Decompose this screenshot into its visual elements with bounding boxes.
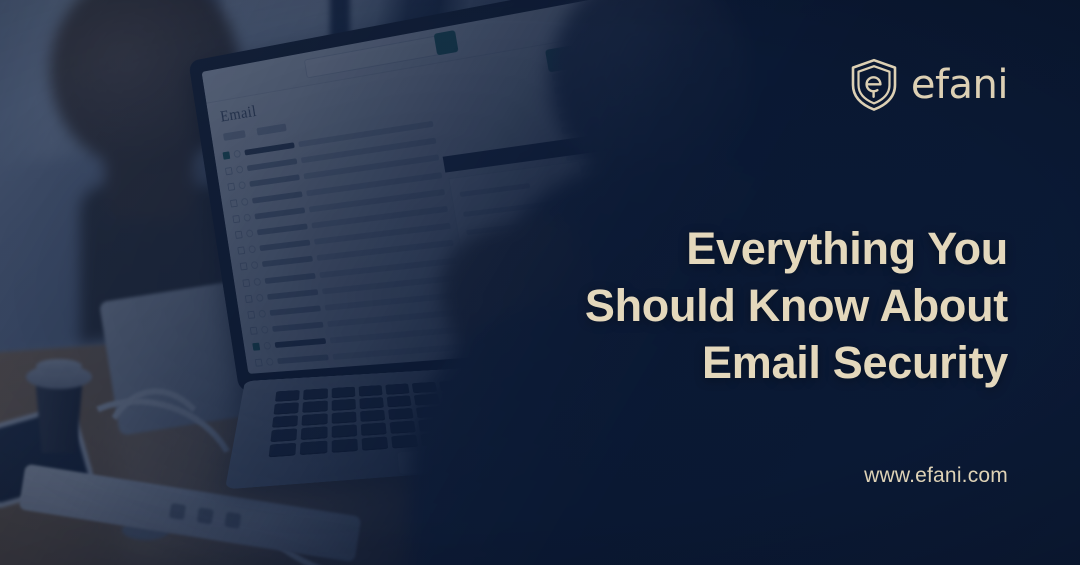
blog-banner: Email <box>0 0 1080 565</box>
page-title: Everything You Should Know About Email S… <box>368 220 1008 391</box>
headline-line-3: Email Security <box>368 334 1008 391</box>
efani-shield-icon <box>850 58 898 112</box>
headline-line-2: Should Know About <box>368 277 1008 334</box>
efani-wordmark: efani <box>911 65 1008 105</box>
headline-line-1: Everything You <box>368 220 1008 277</box>
banner-content: efani Everything You Should Know About E… <box>0 0 1080 565</box>
site-url[interactable]: www.efani.com <box>864 464 1008 488</box>
efani-logo[interactable]: efani <box>850 58 1008 112</box>
